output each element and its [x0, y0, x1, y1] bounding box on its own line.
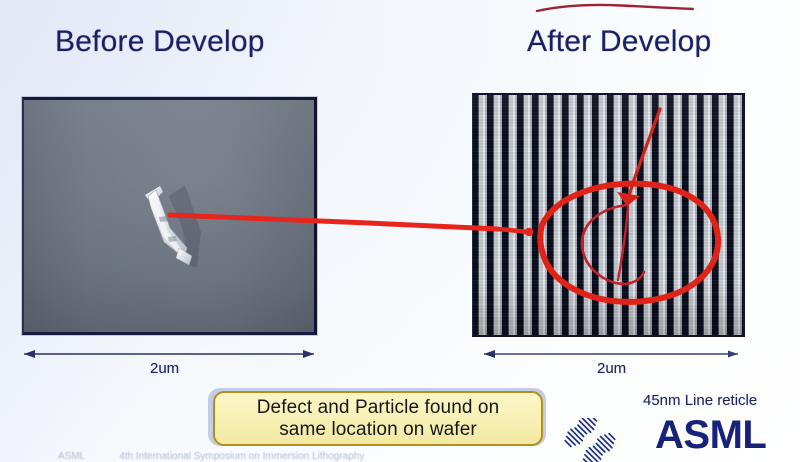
callout-box: Defect and Particle found on same locati…: [213, 391, 543, 446]
reticle-caption: 45nm Line reticle: [643, 392, 757, 409]
heading-before-develop: Before Develop: [55, 25, 265, 59]
asml-wordmark: ASML: [655, 415, 766, 455]
callout-line-2: same location on wafer: [279, 419, 477, 440]
slide-footer: ASML 4th International Symposium on Imme…: [58, 451, 578, 462]
sem-image-after-develop: [472, 93, 745, 337]
scale-label-after: 2um: [597, 360, 626, 377]
sem-shading: [473, 95, 743, 335]
red-underline-stroke-icon: [535, 0, 695, 16]
presentation-slide: Before Develop After Develop: [0, 0, 800, 462]
footer-left: ASML: [58, 451, 85, 462]
footer-right: 4th International Symposium on Immersion…: [119, 451, 364, 462]
sem-image-before-develop: [22, 97, 317, 335]
particle-defect-shape: [24, 100, 317, 335]
heading-after-develop: After Develop: [527, 25, 711, 59]
callout-line-1: Defect and Particle found on: [257, 397, 500, 418]
scale-label-before: 2um: [150, 360, 179, 377]
